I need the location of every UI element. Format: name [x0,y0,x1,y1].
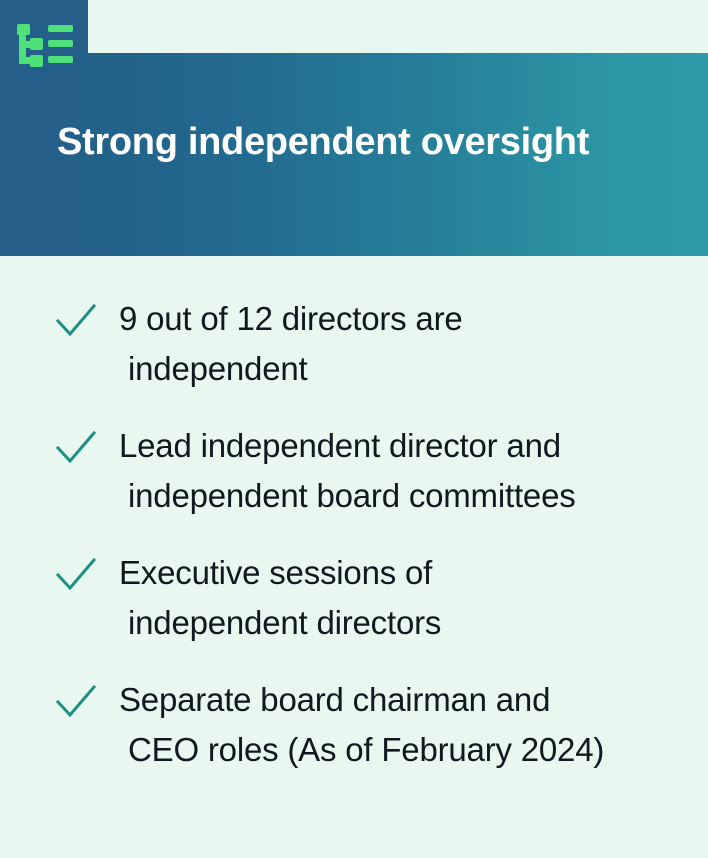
check-icon [55,555,97,597]
check-icon [55,301,97,343]
check-icon [55,682,97,724]
list-item-text: 9 out of 12 directors are independent [119,285,679,394]
page-title: Strong independent oversight [57,118,697,166]
list-item-text: Executive sessions of independent direct… [119,539,679,648]
list-item-line1: Lead independent director and [119,427,561,464]
slide-root: Strong independent oversight 9 out of 12… [0,0,708,858]
list-item-line2: CEO roles (As of February 2024) [119,725,679,775]
bullet-list: 9 out of 12 directors are independent Le… [0,285,708,793]
list-item-line2: independent directors [119,598,679,648]
list-item: Separate board chairman and CEO roles (A… [0,666,708,775]
list-item-line1: 9 out of 12 directors are [119,300,463,337]
list-item-text: Lead independent director and independen… [119,412,679,521]
list-item: Lead independent director and independen… [0,412,708,521]
list-item: Executive sessions of independent direct… [0,539,708,648]
list-item: 9 out of 12 directors are independent [0,285,708,394]
logo-tile [0,0,88,53]
list-item-line2: independent [119,344,679,394]
list-item-line1: Executive sessions of [119,554,432,591]
check-icon [55,428,97,470]
list-item-line2: independent board committees [119,471,679,521]
hierarchy-tree-icon [17,24,73,68]
list-item-line1: Separate board chairman and [119,681,550,718]
list-item-text: Separate board chairman and CEO roles (A… [119,666,679,775]
